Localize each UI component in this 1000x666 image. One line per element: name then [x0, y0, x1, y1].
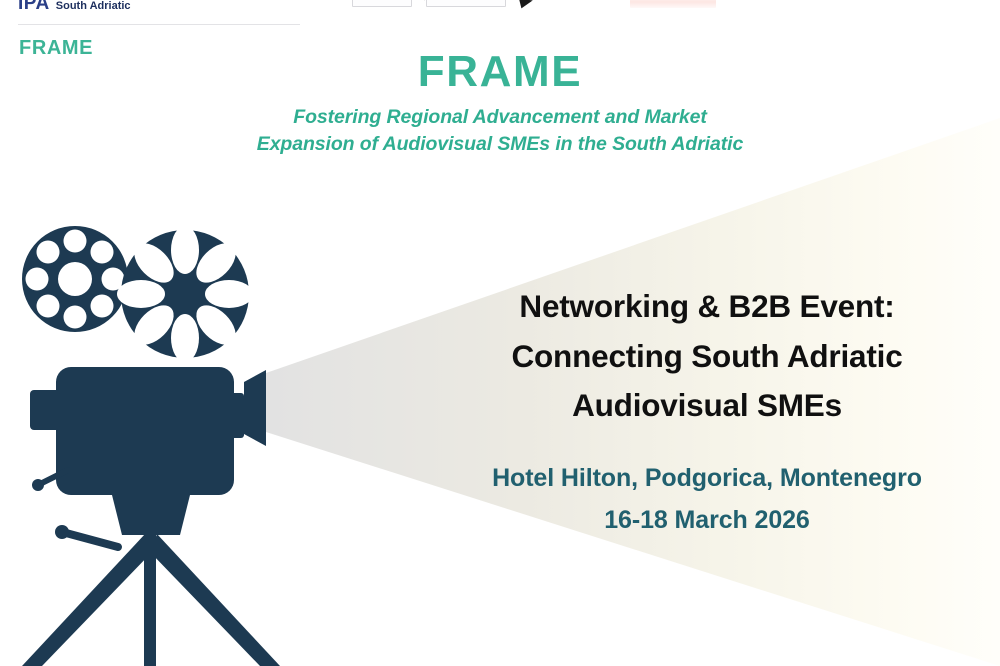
camera-rear-nub	[30, 390, 60, 430]
poster-canvas: IPA South Adriatic FOCUS, AIMED TO EXPLO…	[0, 0, 1000, 666]
large-film-reel	[117, 226, 253, 362]
tripod-pan-handle	[66, 533, 118, 547]
brand-title: FRAME	[0, 48, 1000, 96]
tripod-head	[112, 495, 190, 535]
lens-mount	[230, 393, 244, 438]
partner-logo-chip-1	[352, 0, 412, 7]
small-film-reel	[22, 226, 128, 332]
tripod-pan-handle-grip	[55, 525, 69, 539]
brand-block: FRAME Fostering Regional Advancement and…	[0, 48, 1000, 159]
ipa-wordmark: IPA	[18, 0, 50, 13]
movie-camera-illustration	[0, 222, 300, 666]
tripod-leg-left	[22, 534, 152, 666]
ipa-subtitle: South Adriatic	[56, 1, 131, 13]
camera-lens-horn	[244, 370, 266, 446]
logo-ipa-south-adriatic: IPA South Adriatic	[18, 0, 131, 13]
brand-tagline-line-2: Expansion of Audiovisual SMEs in the Sou…	[0, 131, 1000, 159]
partner-logo-chip-3	[630, 0, 716, 8]
camera-crank-knob	[32, 479, 44, 491]
partner-logo-microtext: FOCUS, AIMED TO EXPLORE	[412, 0, 459, 1]
event-dates: 16-18 March 2026	[420, 499, 994, 541]
event-venue: Hotel Hilton, Podgorica, Montenegro	[420, 457, 994, 499]
event-title-line-3: Audiovisual SMEs	[420, 381, 994, 431]
arrow-right-icon	[519, 0, 534, 8]
brand-tagline-line-1: Fostering Regional Advancement and Marke…	[0, 104, 1000, 132]
event-title-line-1: Networking & B2B Event:	[420, 282, 994, 332]
event-title: Networking & B2B Event: Connecting South…	[420, 282, 994, 431]
logo-center-group: FOCUS, AIMED TO EXPLORE	[352, 0, 533, 7]
header-divider	[18, 24, 300, 25]
event-text-block: Networking & B2B Event: Connecting South…	[420, 282, 994, 541]
event-meta: Hotel Hilton, Podgorica, Montenegro 16-1…	[420, 457, 994, 541]
partner-logo-strip: IPA South Adriatic FOCUS, AIMED TO EXPLO…	[0, 0, 1000, 20]
partner-logo-chip-2: FOCUS, AIMED TO EXPLORE	[426, 0, 506, 7]
event-title-line-2: Connecting South Adriatic	[420, 332, 994, 382]
tripod-leg-center	[144, 534, 156, 666]
brand-tagline: Fostering Regional Advancement and Marke…	[0, 104, 1000, 159]
camera-body	[56, 367, 234, 495]
tripod-leg-right	[150, 534, 280, 666]
